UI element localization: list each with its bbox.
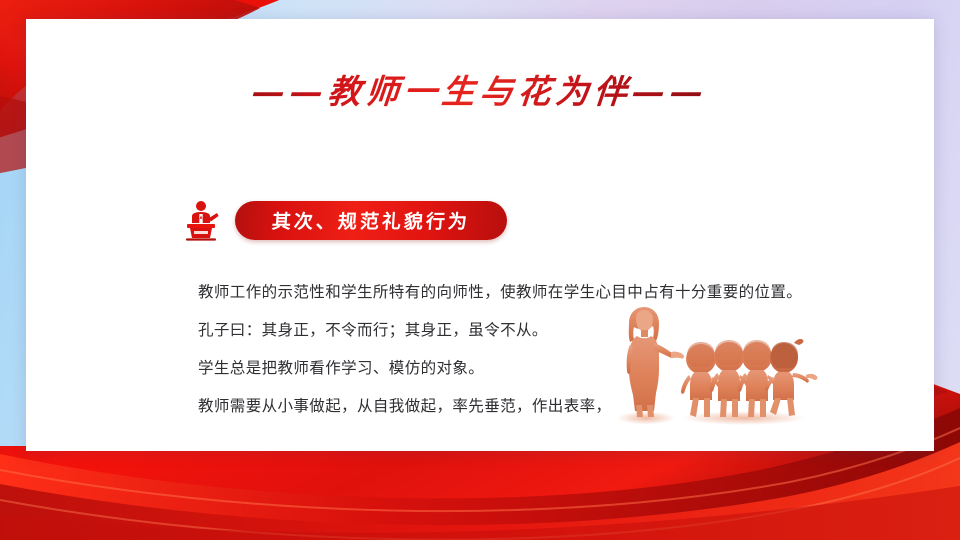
section-badge-label: 其次、规范礼貌行为 [271,207,471,234]
content-card: ——教师一生与花为伴—— 其次、规范礼貌行为 [26,19,934,451]
section-badge[interactable]: 其次、规范礼貌行为 [235,201,507,240]
page-title: ——教师一生与花为伴—— [250,65,710,113]
presentation-slide: ——教师一生与花为伴—— 其次、规范礼貌行为 [0,0,960,540]
podium-speaker-icon [181,199,221,241]
page-title-container: ——教师一生与花为伴—— [26,65,934,113]
child-figure-4 [765,339,818,416]
section-heading-row: 其次、规范礼貌行为 [181,199,507,241]
teacher-figure [627,307,684,417]
teacher-with-children-illustration [609,305,819,427]
